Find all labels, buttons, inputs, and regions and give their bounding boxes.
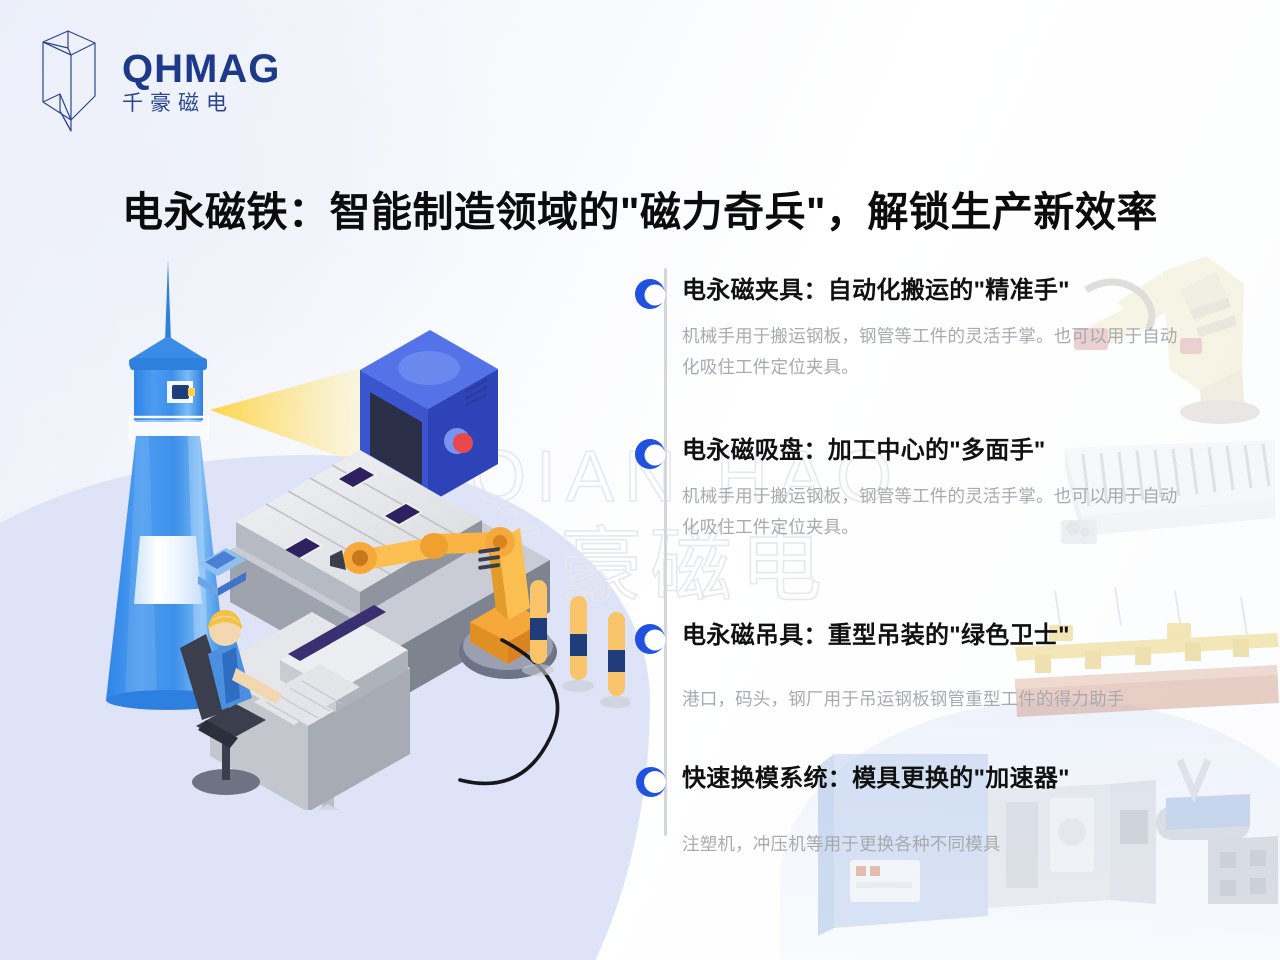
cube-wireframe-icon: [38, 28, 100, 134]
list-item-header: 电永磁夹具：自动化搬运的"精准手": [634, 276, 1234, 311]
isometric-smart-factory-illustration: [30, 250, 630, 810]
list-item-description: 注塑机，冲压机等用于更换各种不同模具: [682, 829, 1234, 860]
crescent-ring-icon: [634, 765, 668, 799]
list-item-description: 机械手用于搬运钢板，钢管等工件的灵活手掌。也可以用于自动化吸住工件定位夹具。: [682, 321, 1187, 382]
list-item-header: 电永磁吊具：重型吊装的"绿色卫士": [634, 621, 1234, 656]
list-item-title: 电永磁吊具：重型吊装的"绿色卫士": [682, 621, 1070, 651]
crescent-ring-icon: [634, 277, 668, 311]
list-item[interactable]: 电永磁夹具：自动化搬运的"精准手" 机械手用于搬运钢板，钢管等工件的灵活手掌。也…: [634, 276, 1234, 382]
list-item-title: 电永磁吸盘：加工中心的"多面手": [682, 436, 1046, 466]
list-item-title: 电永磁夹具：自动化搬运的"精准手": [682, 276, 1070, 306]
page-title: 电永磁铁：智能制造领域的"磁力奇兵"，解锁生产新效率: [0, 178, 1280, 238]
list-item-title: 快速换模系统：模具更换的"加速器": [682, 764, 1070, 794]
bollards: [522, 580, 630, 708]
list-item[interactable]: 电永磁吸盘：加工中心的"多面手" 机械手用于搬运钢板，钢管等工件的灵活手掌。也可…: [634, 436, 1234, 542]
feature-list: 电永磁夹具：自动化搬运的"精准手" 机械手用于搬运钢板，钢管等工件的灵活手掌。也…: [634, 276, 1234, 860]
brand-logo-text: QHMAG 千豪磁电: [122, 49, 280, 114]
operator-workstation: [180, 605, 410, 810]
crescent-ring-icon: [634, 437, 668, 471]
brand-logo[interactable]: QHMAG 千豪磁电: [38, 28, 280, 134]
slide-root: QIAN HAO 千豪磁电 QHMAG 千豪磁电 电永磁铁：智能制造领域的"磁力…: [0, 0, 1280, 960]
list-item[interactable]: 电永磁吊具：重型吊装的"绿色卫士" 港口，码头，钢厂用于吊运钢板钢管重型工件的得…: [634, 621, 1234, 715]
lighthouse-light-beam: [210, 368, 360, 464]
list-item-description: 机械手用于搬运钢板，钢管等工件的灵活手掌。也可以用于自动化吸住工件定位夹具。: [682, 481, 1187, 542]
list-item[interactable]: 快速换模系统：模具更换的"加速器" 注塑机，冲压机等用于更换各种不同模具: [634, 764, 1234, 860]
brand-chinese-name: 千豪磁电: [122, 93, 280, 114]
crescent-ring-icon: [634, 622, 668, 656]
lighthouse: [106, 260, 230, 710]
brand-wordmark: QHMAG: [122, 49, 280, 89]
list-item-description: 港口，码头，钢厂用于吊运钢板钢管重型工件的得力助手: [682, 684, 1234, 715]
list-item-header: 电永磁吸盘：加工中心的"多面手": [634, 436, 1234, 471]
list-item-header: 快速换模系统：模具更换的"加速器": [634, 764, 1234, 799]
